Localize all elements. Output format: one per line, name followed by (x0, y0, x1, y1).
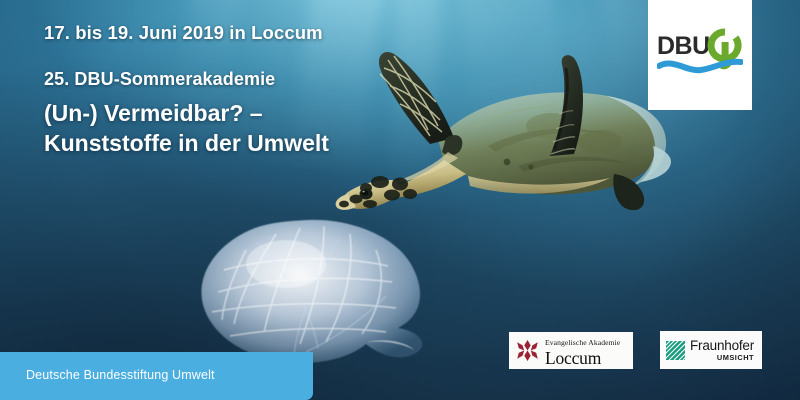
event-date-line: 17. bis 19. Juni 2019 in Loccum (44, 22, 374, 44)
fraunhofer-line-2: UMSICHT (690, 354, 754, 361)
fraunhofer-striped-square-icon (666, 341, 685, 360)
poster-canvas: 17. bis 19. Juni 2019 in Loccum 25. DBU-… (0, 0, 800, 400)
headline-line-2: Kunststoffe in der Umwelt (44, 129, 374, 159)
fraunhofer-line-1: Fraunhofer (690, 339, 754, 353)
svg-text:DBU: DBU (657, 32, 710, 60)
fraunhofer-logo: Fraunhofer UMSICHT (660, 331, 762, 369)
dbu-logo-mark: DBU (657, 28, 743, 82)
loccum-cross-icon (514, 337, 541, 364)
loccum-line-2: Loccum (545, 350, 620, 368)
headline-line-1: (Un-) Vermeidbar? – (44, 99, 374, 129)
fraunhofer-wordmark: Fraunhofer UMSICHT (690, 339, 754, 362)
headline-text-block: 17. bis 19. Juni 2019 in Loccum 25. DBU-… (44, 22, 374, 159)
organisation-banner: Deutsche Bundesstiftung Umwelt (0, 352, 313, 400)
loccum-line-1: Evangelische Akademie (545, 338, 620, 347)
loccum-wordmark: Evangelische Akademie Loccum (545, 333, 620, 368)
event-headline: (Un-) Vermeidbar? – Kunststoffe in der U… (44, 99, 374, 159)
dbu-logo: DBU (648, 0, 752, 110)
organisation-banner-label: Deutsche Bundesstiftung Umwelt (0, 368, 215, 384)
loccum-logo: Evangelische Akademie Loccum (509, 332, 633, 369)
event-kicker: 25. DBU-Sommerakademie (44, 69, 374, 90)
